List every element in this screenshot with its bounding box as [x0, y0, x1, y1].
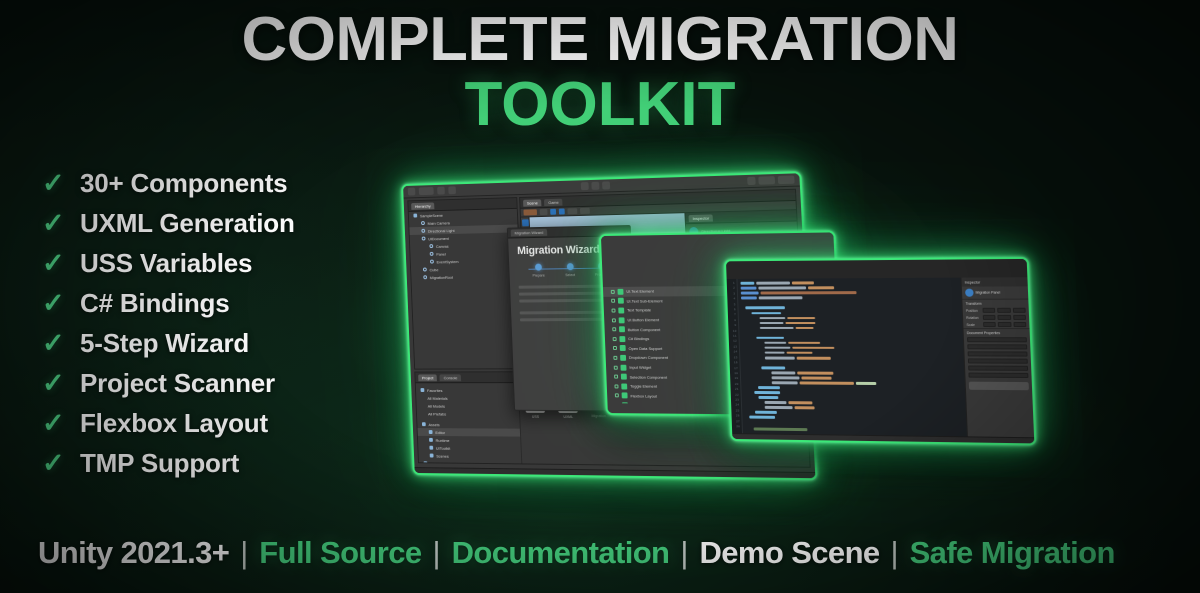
feature-item: ✓ TMP Support: [42, 448, 295, 482]
code-inspector-object-row[interactable]: Migration Panel: [962, 286, 1028, 298]
tab-game[interactable]: Game: [544, 198, 562, 205]
row-checkbox[interactable]: [612, 318, 616, 322]
transform-row[interactable]: Rotation: [963, 314, 1029, 321]
footer-separator: |: [669, 535, 699, 571]
row-checkbox[interactable]: [612, 327, 616, 331]
lighting-toggle[interactable]: [550, 209, 556, 215]
row-checkbox[interactable]: [615, 394, 619, 398]
feature-label: TMP Support: [80, 448, 239, 479]
value-field[interactable]: [997, 308, 1010, 313]
tab-project[interactable]: Project: [418, 374, 437, 381]
code-inspector-object-name: Migration Panel: [976, 291, 1001, 295]
tree-label: Panel: [436, 251, 446, 256]
folder-icon: [421, 388, 425, 392]
shading-mode-dropdown[interactable]: [523, 209, 537, 215]
property-row[interactable]: [965, 372, 1031, 380]
feature-item: ✓ Project Scanner: [42, 368, 295, 402]
tree-label: UIToolkit: [436, 445, 450, 450]
playback-controls[interactable]: [581, 181, 610, 190]
feature-item: ✓ USS Variables: [42, 248, 295, 282]
row-checkbox[interactable]: [613, 346, 617, 350]
step-dot-icon: [566, 263, 573, 270]
tree-label: UIDocument: [428, 236, 449, 241]
folder-icon: [422, 422, 426, 426]
step-button[interactable]: [602, 181, 610, 189]
component-icon: [620, 355, 626, 361]
headline-primary: COMPLETE MIGRATION: [0, 8, 1200, 71]
code-editor-window[interactable]: UXML MigrationPanel.uxml 1234 5678 91011…: [724, 257, 1037, 446]
feature-item: ✓ C# Bindings: [42, 288, 295, 322]
transform-section-label: Transform: [962, 299, 1028, 307]
tab-console[interactable]: Console: [440, 374, 461, 381]
toolbar-right-controls[interactable]: [747, 175, 794, 185]
code-inspector-panel[interactable]: Inspector Migration Panel Transform Posi…: [960, 277, 1034, 437]
folder-icon: [429, 438, 433, 442]
play-button[interactable]: [581, 182, 589, 190]
scene-icon: [413, 214, 417, 218]
check-icon: ✓: [42, 450, 68, 477]
audio-toggle[interactable]: [559, 208, 565, 214]
component-icon: [619, 317, 625, 323]
step-dot-icon: [535, 264, 542, 271]
step-label: Prepare: [532, 273, 544, 277]
folder-icon: [429, 446, 433, 450]
transform-row-label: Scale: [966, 322, 981, 326]
footer-item-demo-scene: Demo Scene: [699, 535, 879, 571]
check-icon: ✓: [42, 370, 68, 397]
row-checkbox[interactable]: [613, 337, 617, 341]
component-icon: [618, 298, 624, 304]
folder-label-extra: Migration...: [591, 414, 609, 418]
feature-item: ✓ UXML Generation: [42, 208, 295, 242]
feature-label: C# Bindings: [80, 288, 229, 319]
apply-migration-button[interactable]: [969, 382, 1029, 391]
tab-migration-wizard[interactable]: Migration Wizard: [511, 229, 548, 237]
gameobject-icon: [421, 221, 425, 225]
account-icon[interactable]: [448, 186, 456, 194]
feature-label: 30+ Components: [80, 168, 287, 199]
code-text[interactable]: [737, 278, 966, 437]
property-field[interactable]: [968, 373, 1028, 378]
footer-separator: |: [880, 535, 910, 571]
tree-label: All Materials: [427, 395, 447, 400]
tab-hierarchy[interactable]: Hierarchy: [411, 202, 434, 209]
component-icon: [619, 326, 625, 332]
tree-label: All Prefabs: [428, 411, 446, 416]
property-field[interactable]: [967, 344, 1027, 349]
tree-label: Scenes: [436, 453, 449, 458]
feature-label: Project Scanner: [80, 368, 275, 399]
list-item[interactable]: Favorites: [416, 386, 518, 394]
pause-button[interactable]: [591, 182, 599, 190]
tree-label: Runtime: [436, 437, 450, 442]
collab-icon[interactable]: [747, 177, 756, 185]
component-icon: [620, 345, 626, 351]
tree-label: Assets: [428, 422, 439, 427]
row-checkbox[interactable]: [611, 299, 615, 303]
wizard-step[interactable]: Select: [554, 263, 586, 277]
component-icon: [620, 364, 626, 370]
document-section-label: Document Properties: [964, 328, 1030, 336]
property-field[interactable]: [968, 359, 1028, 364]
component-icon: [618, 308, 624, 314]
folder-label: USS: [532, 415, 539, 419]
feature-label: 5-Step Wizard: [80, 328, 249, 359]
tree-label: Directional Light: [428, 228, 455, 234]
row-checkbox[interactable]: [614, 365, 618, 369]
component-icon: [621, 383, 627, 389]
tab-inspector[interactable]: Inspector: [688, 214, 713, 222]
hierarchy-panel[interactable]: Hierarchy SampleScene Main Camera Direct…: [407, 197, 524, 370]
tree-label: All Models: [428, 403, 445, 408]
component-icon: [617, 289, 623, 295]
tree-label: Favorites: [427, 388, 442, 393]
feature-list: ✓ 30+ Components ✓ UXML Generation ✓ USS…: [42, 168, 295, 482]
transform-tools-icon[interactable]: [419, 187, 434, 195]
tree-label: Editor: [435, 430, 445, 435]
row-checkbox[interactable]: [613, 356, 617, 360]
gameobject-icon: [423, 268, 427, 272]
footer-item-safe-migration: Safe Migration: [910, 535, 1115, 571]
check-icon: ✓: [42, 330, 68, 357]
cloud-icon[interactable]: [437, 187, 445, 195]
project-tree[interactable]: Favorites All Materials All Models All P…: [416, 383, 523, 463]
feature-item: ✓ 5-Step Wizard: [42, 328, 295, 362]
value-field[interactable]: [1013, 308, 1026, 313]
footer-item-unity: Unity 2021.3+: [38, 535, 229, 571]
check-icon: ✓: [42, 250, 68, 277]
gameobject-icon: [430, 252, 434, 256]
value-field[interactable]: [998, 315, 1011, 320]
footer-item-full-source: Full Source: [259, 535, 421, 571]
component-icon: [622, 393, 628, 399]
tree-label: MigrationRoot: [430, 274, 453, 279]
row-checkbox[interactable]: [612, 309, 616, 313]
check-icon: ✓: [42, 410, 68, 437]
move-tool-icon[interactable]: [522, 219, 529, 226]
promo-banner: Hierarchy SampleScene Main Camera Direct…: [0, 0, 1200, 593]
value-field[interactable]: [1013, 322, 1026, 327]
check-icon: ✓: [42, 290, 68, 317]
tree-label: EventSystem: [436, 259, 458, 264]
feature-label: USS Variables: [80, 248, 252, 279]
tree-label: SampleScene: [420, 212, 443, 217]
transform-row[interactable]: Scale: [963, 321, 1029, 328]
property-field[interactable]: [967, 337, 1027, 342]
gameobject-icon: [430, 260, 434, 264]
feature-item: ✓ 30+ Components: [42, 168, 295, 202]
transform-row-label: Rotation: [966, 315, 981, 319]
value-field[interactable]: [998, 322, 1011, 327]
layout-dropdown[interactable]: [778, 175, 795, 184]
effects-dropdown[interactable]: [567, 208, 577, 214]
object-icon: [965, 289, 974, 297]
gameobject-icon: [429, 244, 433, 248]
footer-item-documentation: Documentation: [452, 535, 670, 571]
headline-block: COMPLETE MIGRATION TOOLKIT: [0, 8, 1200, 136]
tree-row[interactable]: MigrationRoot: [411, 272, 520, 282]
tab-scene[interactable]: Scene: [523, 199, 542, 206]
footer-separator: |: [229, 535, 259, 571]
tree-label: Main Camera: [427, 220, 449, 225]
property-field[interactable]: [968, 366, 1028, 371]
check-icon: ✓: [42, 170, 68, 197]
component-icon: [621, 374, 627, 380]
folder-icon: [430, 454, 434, 458]
gizmos-dropdown[interactable]: [580, 208, 590, 214]
row-checkbox[interactable]: [614, 384, 618, 388]
feature-item: ✓ Flexbox Layout: [42, 408, 295, 442]
gameobject-icon: [421, 229, 425, 233]
layers-dropdown[interactable]: [758, 176, 775, 185]
list-item[interactable]: All Materials: [416, 394, 518, 402]
tree-label: Canvas: [436, 243, 449, 248]
hand-tool-icon[interactable]: [408, 188, 416, 196]
property-field[interactable]: [968, 352, 1028, 357]
value-field[interactable]: [983, 315, 996, 320]
footer-separator: |: [422, 535, 452, 571]
component-icon: [619, 336, 625, 342]
value-field[interactable]: [982, 308, 995, 313]
wizard-step[interactable]: Prepare: [523, 263, 555, 277]
value-field[interactable]: [983, 322, 996, 327]
2d-toggle[interactable]: [540, 209, 548, 215]
row-checkbox[interactable]: [611, 290, 615, 294]
feature-label: UXML Generation: [80, 208, 295, 239]
footer-bar: Unity 2021.3+ | Full Source | Documentat…: [38, 535, 1115, 571]
row-checkbox[interactable]: [614, 375, 618, 379]
folder-label: UXML: [563, 415, 573, 419]
feature-label: Flexbox Layout: [80, 408, 268, 439]
gameobject-icon: [423, 275, 427, 279]
list-item[interactable]: All Prefabs: [417, 410, 520, 418]
transform-row-label: Position: [966, 308, 981, 312]
folder-icon: [429, 430, 433, 434]
value-field[interactable]: [1013, 315, 1026, 320]
tree-label: Cube: [429, 267, 438, 272]
code-editor-area[interactable]: 1234 5678 9101112 13141516 17181920 2122…: [727, 278, 967, 437]
gameobject-icon: [422, 237, 426, 241]
code-inspector-title: Inspector: [961, 277, 1027, 286]
step-label: Select: [565, 273, 575, 277]
transform-row[interactable]: Position: [963, 307, 1029, 314]
headline-secondary: TOOLKIT: [0, 73, 1200, 136]
check-icon: ✓: [42, 210, 68, 237]
